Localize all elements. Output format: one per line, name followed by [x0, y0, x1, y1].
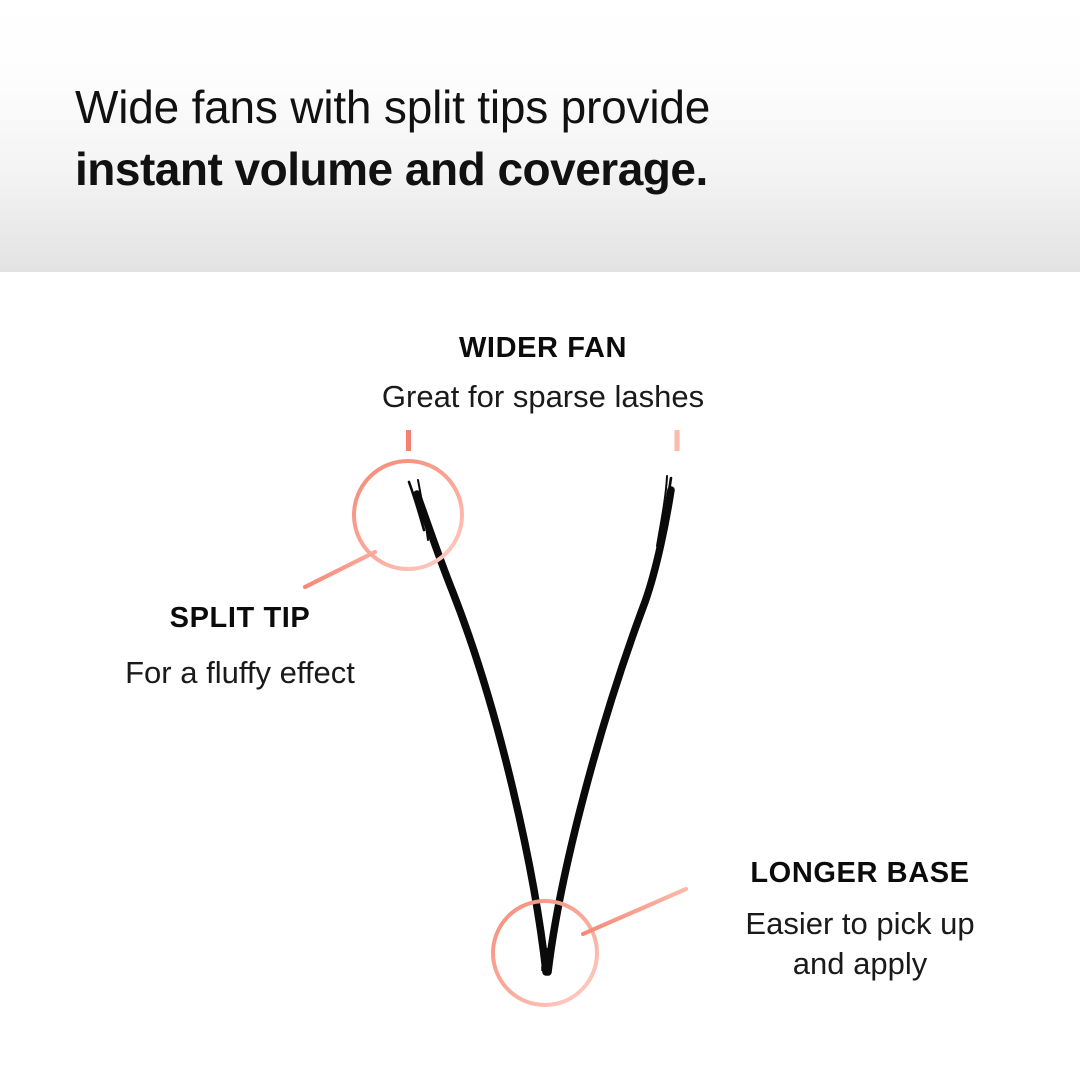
callout-split-tip-subtitle: For a fluffy effect — [60, 653, 420, 693]
infographic-canvas: Wide fans with split tips provide instan… — [0, 0, 1080, 1080]
callout-wider-fan-title: WIDER FAN — [243, 332, 843, 365]
callout-split-tip-title: SPLIT TIP — [60, 602, 420, 635]
callout-wider-fan: WIDER FAN Great for sparse lashes — [243, 332, 843, 417]
callout-wider-fan-subtitle: Great for sparse lashes — [243, 377, 843, 417]
callout-longer-base-subtitle-line1: Easier to pick up — [660, 904, 1060, 944]
header-band: Wide fans with split tips provide instan… — [0, 0, 1080, 272]
headline-line-2: instant volume and coverage. — [75, 138, 1005, 200]
lash-diagram: WIDER FAN Great for sparse lashes SPLIT … — [0, 272, 1080, 1080]
longer-base-marker — [493, 889, 686, 1005]
callout-longer-base-title: LONGER BASE — [660, 857, 1060, 890]
lash-blade-left — [417, 494, 546, 972]
callout-longer-base: LONGER BASE Easier to pick up and apply — [660, 857, 1060, 984]
lash-blade-right — [548, 490, 671, 972]
page-title: Wide fans with split tips provide instan… — [75, 76, 1005, 200]
split-tip-leader-line — [305, 552, 375, 587]
headline-line-1: Wide fans with split tips provide — [75, 76, 1005, 138]
callout-split-tip: SPLIT TIP For a fluffy effect — [60, 602, 420, 693]
split-tip-marker — [305, 461, 462, 587]
width-measure-bar — [407, 430, 678, 451]
callout-longer-base-subtitle-line2: and apply — [660, 944, 1060, 984]
